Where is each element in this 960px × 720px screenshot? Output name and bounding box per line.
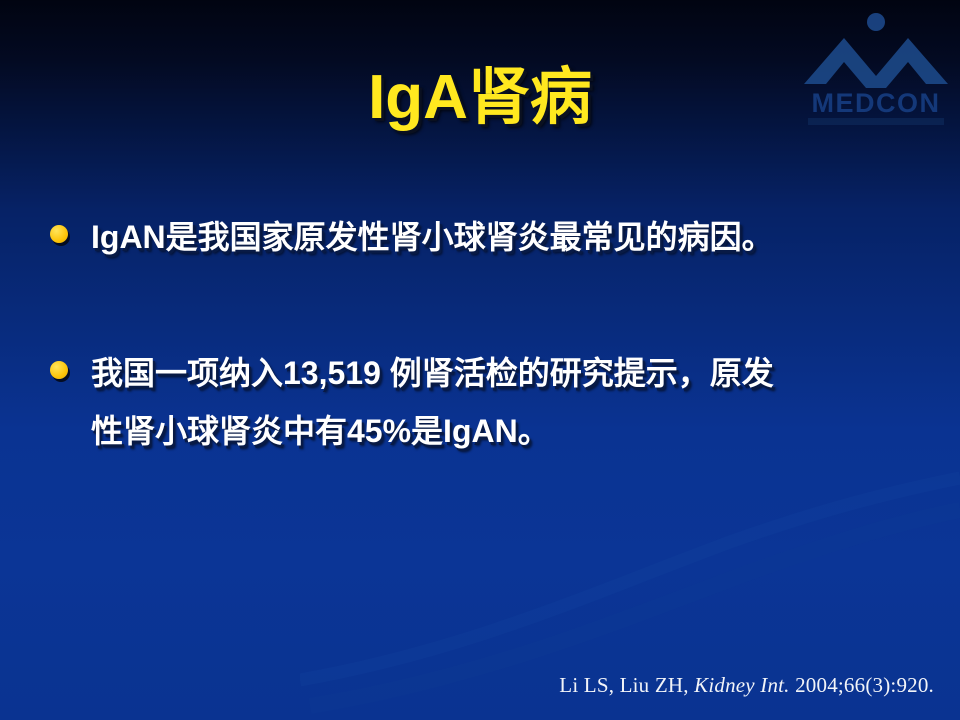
bullet-line: 性肾小球肾炎中有45%是IgAN。 xyxy=(91,402,930,460)
bullet-line: 我国一项纳入13,519 例肾活检的研究提示，原发 xyxy=(91,344,930,402)
bullet-dot-icon xyxy=(50,361,68,379)
bullet-text-1: IgAN是我国家原发性肾小球肾炎最常见的病因。 xyxy=(91,208,930,266)
bullet-item-1: IgAN是我国家原发性肾小球肾炎最常见的病因。 xyxy=(50,208,930,266)
bullet-list: IgAN是我国家原发性肾小球肾炎最常见的病因。 我国一项纳入13,519 例肾活… xyxy=(50,208,930,460)
bullet-item-2: 我国一项纳入13,519 例肾活检的研究提示，原发 性肾小球肾炎中有45%是Ig… xyxy=(50,344,930,460)
bullet-line: IgAN是我国家原发性肾小球肾炎最常见的病因。 xyxy=(91,208,930,266)
bullet-dot-icon xyxy=(50,225,68,243)
citation: Li LS, Liu ZH, Kidney Int. 2004;66(3):92… xyxy=(559,673,934,698)
citation-authors: Li LS, Liu ZH, xyxy=(559,673,694,697)
slide-title: IgA肾病 xyxy=(0,46,960,136)
citation-reference: 2004;66(3):920. xyxy=(790,673,934,697)
citation-journal: Kidney Int. xyxy=(694,673,790,697)
slide-canvas: MEDCON IgA肾病 IgAN是我国家原发性肾小球肾炎最常见的病因。 我国一… xyxy=(0,0,960,720)
sun-icon xyxy=(867,13,885,31)
bullet-text-2: 我国一项纳入13,519 例肾活检的研究提示，原发 性肾小球肾炎中有45%是Ig… xyxy=(91,344,930,460)
